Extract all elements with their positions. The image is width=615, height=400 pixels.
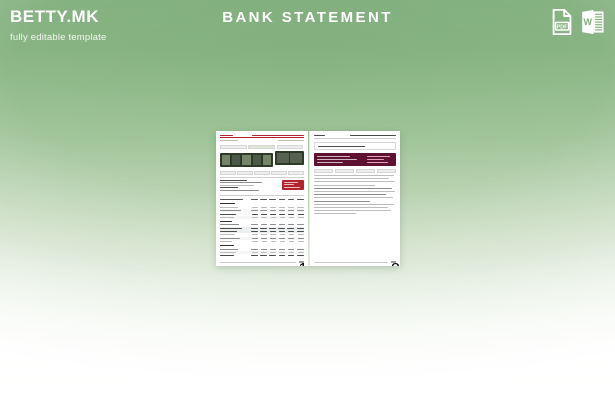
pdf-file-icon[interactable]: PDF [551, 9, 573, 35]
page2-body-paragraph-3 [314, 204, 397, 215]
page2-body-paragraph-1 [314, 175, 397, 186]
bank-statement-document-preview[interactable]: 1 [216, 131, 400, 266]
page1-header-rule [220, 137, 304, 138]
table-total-row [220, 254, 304, 257]
word-file-icon[interactable]: W [581, 9, 605, 35]
page1-number: 1 [299, 261, 304, 263]
pdf-icon-label: PDF [557, 24, 568, 30]
page2-field-chips [314, 169, 397, 173]
app-stage: BETTY.MK fully editable template BANK ST… [0, 0, 615, 400]
page2-summary-right [367, 156, 393, 163]
page1-notes-block [220, 180, 279, 193]
page1-divider-1 [220, 177, 304, 178]
page1-balance-panel [275, 151, 303, 165]
page1-summary-band [220, 153, 273, 167]
page2-header-rule [314, 138, 397, 139]
page2-header-line [314, 135, 397, 136]
brand-tagline: fully editable template [10, 33, 107, 43]
page2-body-paragraph-2 [314, 188, 397, 202]
page1-header-line [220, 135, 304, 136]
page1-account-band [220, 151, 304, 169]
page1-subheader [220, 140, 304, 143]
page-title: BANK STATEMENT [0, 9, 615, 26]
page2-footer: 2 [314, 261, 397, 263]
page1-highlight-box [282, 180, 304, 190]
file-format-icons: PDF W [551, 9, 605, 35]
page1-notes-and-cta [220, 180, 304, 193]
statement-page-1[interactable]: 1 [216, 131, 308, 266]
page1-meta-chips [220, 171, 304, 175]
page2-summary-left [317, 156, 364, 163]
page1-tab-chips [220, 145, 304, 149]
page1-footer: 1 [220, 261, 304, 263]
page2-number: 2 [391, 261, 396, 263]
page2-title-box [314, 142, 397, 150]
page1-divider-2 [220, 195, 304, 196]
page2-summary-panel [314, 153, 397, 166]
word-icon-label: W [584, 17, 593, 27]
statement-page-2[interactable]: 2 [309, 131, 401, 266]
transactions-table [220, 198, 304, 258]
